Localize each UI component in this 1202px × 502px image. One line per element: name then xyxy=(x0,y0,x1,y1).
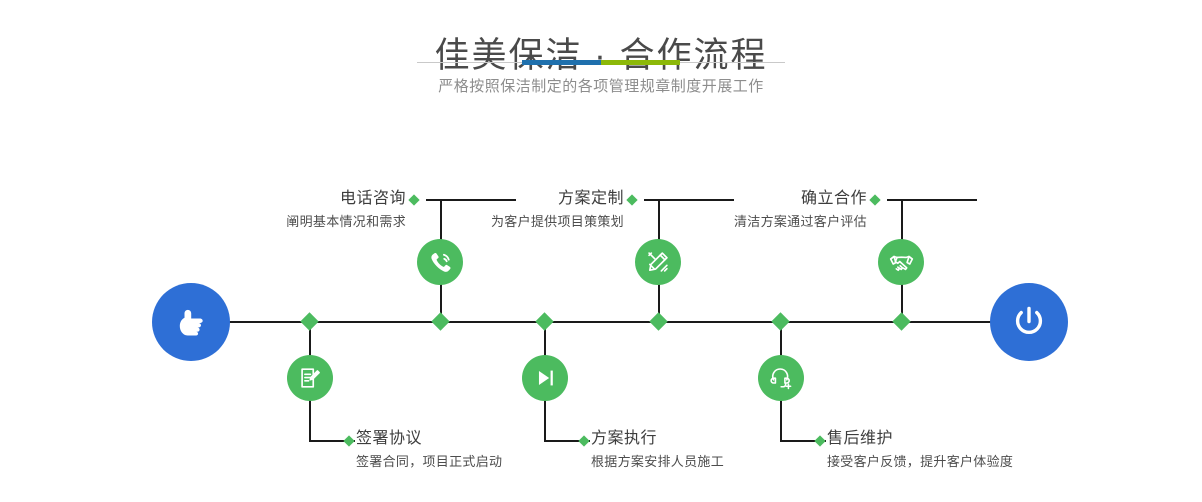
step-1-label: 电话咨询 阐明基本情况和需求 xyxy=(226,188,406,232)
step-2-axis-marker xyxy=(300,312,318,330)
step-6-label: 售后维护 接受客户反馈，提升客户体验度 xyxy=(827,428,1087,472)
play-execute-icon xyxy=(532,365,558,391)
step-2-desc: 签署合同，项目正式启动 xyxy=(356,452,586,472)
process-flow-infographic: 佳美保洁 · 合作流程 严格按照保洁制定的各项管理规章制度开展工作 xyxy=(0,0,1202,502)
step-1-axis-marker xyxy=(431,312,449,330)
page-subtitle: 严格按照保洁制定的各项管理规章制度开展工作 xyxy=(0,75,1202,96)
step-6-title: 售后维护 xyxy=(827,428,1087,450)
step-3-label: 方案定制 为客户提供项目策策划 xyxy=(444,188,624,232)
step-5-axis-marker xyxy=(892,312,910,330)
title-divider xyxy=(417,60,785,65)
step-2-label-marker xyxy=(343,435,354,446)
step-2-label: 签署协议 签署合同，项目正式启动 xyxy=(356,428,586,472)
step-4-label: 方案执行 根据方案安排人员施工 xyxy=(591,428,821,472)
step-1-title: 电话咨询 xyxy=(226,188,406,210)
step-6-axis-marker xyxy=(771,312,789,330)
step-1-desc: 阐明基本情况和需求 xyxy=(226,212,406,232)
pencil-ruler-icon xyxy=(645,249,671,275)
step-3-axis-marker xyxy=(649,312,667,330)
timeline-start-node[interactable] xyxy=(152,283,230,361)
step-4-icon-node[interactable] xyxy=(522,355,568,401)
step-6-desc: 接受客户反馈，提升客户体验度 xyxy=(827,452,1087,472)
step-5-title: 确立合作 xyxy=(687,188,867,210)
header: 佳美保洁 · 合作流程 xyxy=(0,34,1202,78)
customer-service-icon xyxy=(768,365,794,391)
step-3-icon-node[interactable] xyxy=(635,239,681,285)
step-2-icon-node[interactable] xyxy=(287,355,333,401)
step-3-title: 方案定制 xyxy=(444,188,624,210)
page-title: 佳美保洁 · 合作流程 xyxy=(0,34,1202,78)
step-1-icon-node[interactable] xyxy=(417,239,463,285)
document-sign-icon xyxy=(297,365,323,391)
divider-segment-green xyxy=(601,60,680,65)
step-5-icon-node[interactable] xyxy=(878,239,924,285)
step-4-axis-marker xyxy=(535,312,553,330)
power-icon xyxy=(1008,301,1050,343)
step-3-label-marker xyxy=(626,194,637,205)
handshake-icon xyxy=(888,249,915,276)
phone-call-icon xyxy=(427,249,454,276)
step-4-desc: 根据方案安排人员施工 xyxy=(591,452,821,472)
step-5-label: 确立合作 清洁方案通过客户评估 xyxy=(687,188,867,232)
step-1-label-marker xyxy=(408,194,419,205)
divider-segment-blue xyxy=(522,60,601,65)
pointing-hand-icon xyxy=(171,302,211,342)
timeline-axis xyxy=(155,321,1048,323)
step-3-desc: 为客户提供项目策策划 xyxy=(444,212,624,232)
step-4-title: 方案执行 xyxy=(591,428,821,450)
step-6-icon-node[interactable] xyxy=(758,355,804,401)
timeline-end-node[interactable] xyxy=(990,283,1068,361)
step-5-desc: 清洁方案通过客户评估 xyxy=(687,212,867,232)
step-2-title: 签署协议 xyxy=(356,428,586,450)
step-5-label-marker xyxy=(869,194,880,205)
